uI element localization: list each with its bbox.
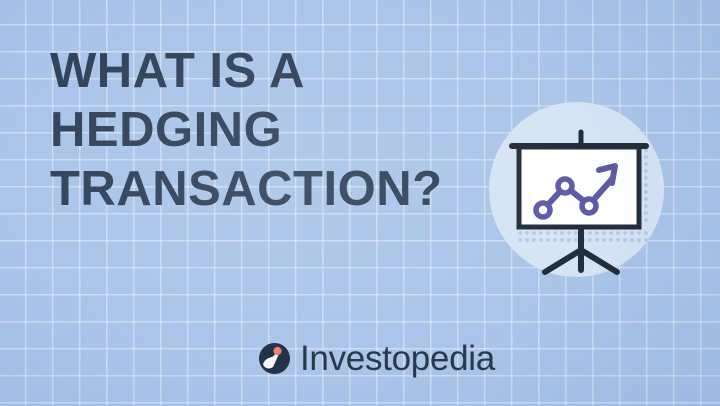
- title-line-1: WHAT IS A: [50, 42, 480, 101]
- investopedia-logo: Investopedia: [258, 341, 495, 376]
- video-title-card: WHAT IS A HEDGING TRANSACTION?: [0, 0, 720, 406]
- page-title: WHAT IS A HEDGING TRANSACTION?: [50, 42, 480, 219]
- title-line-2: HEDGING: [50, 101, 480, 160]
- presentation-chart-svg: [489, 102, 664, 277]
- investopedia-mark-icon: [258, 342, 291, 375]
- title-line-3: TRANSACTION?: [50, 160, 480, 219]
- tripod-stand: [545, 230, 617, 272]
- presentation-chart-icon: [489, 102, 664, 277]
- investopedia-wordmark: Investopedia: [300, 341, 495, 376]
